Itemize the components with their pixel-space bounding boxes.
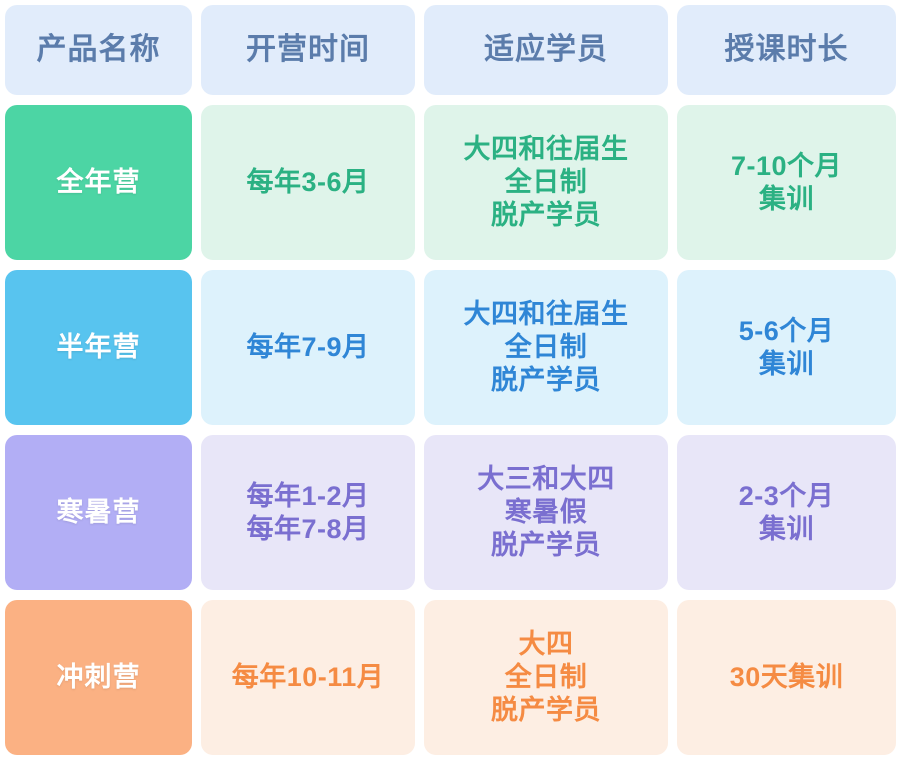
table-row: 全年营 每年3-6月 大四和往届生 全日制 脱产学员 7-10个月 集训 [5, 105, 896, 260]
product-name-cell: 全年营 [5, 105, 192, 260]
column-header-start-time: 开营时间 [201, 5, 415, 95]
product-name-cell: 寒暑营 [5, 435, 192, 590]
table-row: 寒暑营 每年1-2月 每年7-8月 大三和大四 寒暑假 脱产学员 2-3个月 集… [5, 435, 896, 590]
course-duration-cell: 7-10个月 集训 [677, 105, 896, 260]
text-line: 每年7-8月 [246, 513, 369, 546]
text-line: 全日制 [491, 661, 601, 694]
text-line: 寒暑假 [477, 496, 615, 529]
text-line: 脱产学员 [491, 694, 601, 727]
text-line: 集训 [739, 513, 835, 546]
course-duration-cell: 2-3个月 集训 [677, 435, 896, 590]
text-line: 2-3个月 [739, 480, 835, 513]
text-line: 大四和往届生 [464, 298, 629, 331]
text-line: 脱产学员 [477, 529, 615, 562]
start-time-cell: 每年7-9月 [201, 270, 415, 425]
product-name-cell: 冲刺营 [5, 600, 192, 755]
text-line: 大四和往届生 [464, 133, 629, 166]
text-line: 每年7-9月 [246, 331, 369, 364]
target-students-cell: 大三和大四 寒暑假 脱产学员 [424, 435, 668, 590]
text-line: 30天集训 [730, 661, 844, 694]
text-line: 集训 [739, 348, 835, 381]
course-duration-cell: 30天集训 [677, 600, 896, 755]
text-line: 大三和大四 [477, 463, 615, 496]
start-time-cell: 每年10-11月 [201, 600, 415, 755]
column-header-product-name: 产品名称 [5, 5, 192, 95]
course-duration-cell: 5-6个月 集训 [677, 270, 896, 425]
product-name-cell: 半年营 [5, 270, 192, 425]
table-header-row: 产品名称 开营时间 适应学员 授课时长 [5, 5, 896, 95]
column-header-target-students: 适应学员 [424, 5, 668, 95]
text-line: 脱产学员 [464, 199, 629, 232]
table-row: 冲刺营 每年10-11月 大四 全日制 脱产学员 30天集训 [5, 600, 896, 755]
text-line: 脱产学员 [464, 364, 629, 397]
target-students-cell: 大四和往届生 全日制 脱产学员 [424, 270, 668, 425]
text-line: 7-10个月 [731, 150, 842, 183]
table-row: 半年营 每年7-9月 大四和往届生 全日制 脱产学员 5-6个月 集训 [5, 270, 896, 425]
text-line: 5-6个月 [739, 315, 835, 348]
text-line: 全日制 [464, 331, 629, 364]
text-line: 全日制 [464, 166, 629, 199]
column-header-course-duration: 授课时长 [677, 5, 896, 95]
text-line: 集训 [731, 183, 842, 216]
text-line: 每年10-11月 [232, 661, 385, 694]
text-line: 大四 [491, 628, 601, 661]
text-line: 每年3-6月 [246, 166, 369, 199]
text-line: 每年1-2月 [246, 480, 369, 513]
target-students-cell: 大四和往届生 全日制 脱产学员 [424, 105, 668, 260]
start-time-cell: 每年3-6月 [201, 105, 415, 260]
product-comparison-table: 产品名称 开营时间 适应学员 授课时长 全年营 每年3-6月 大四和往届生 全日… [0, 0, 901, 760]
target-students-cell: 大四 全日制 脱产学员 [424, 600, 668, 755]
start-time-cell: 每年1-2月 每年7-8月 [201, 435, 415, 590]
